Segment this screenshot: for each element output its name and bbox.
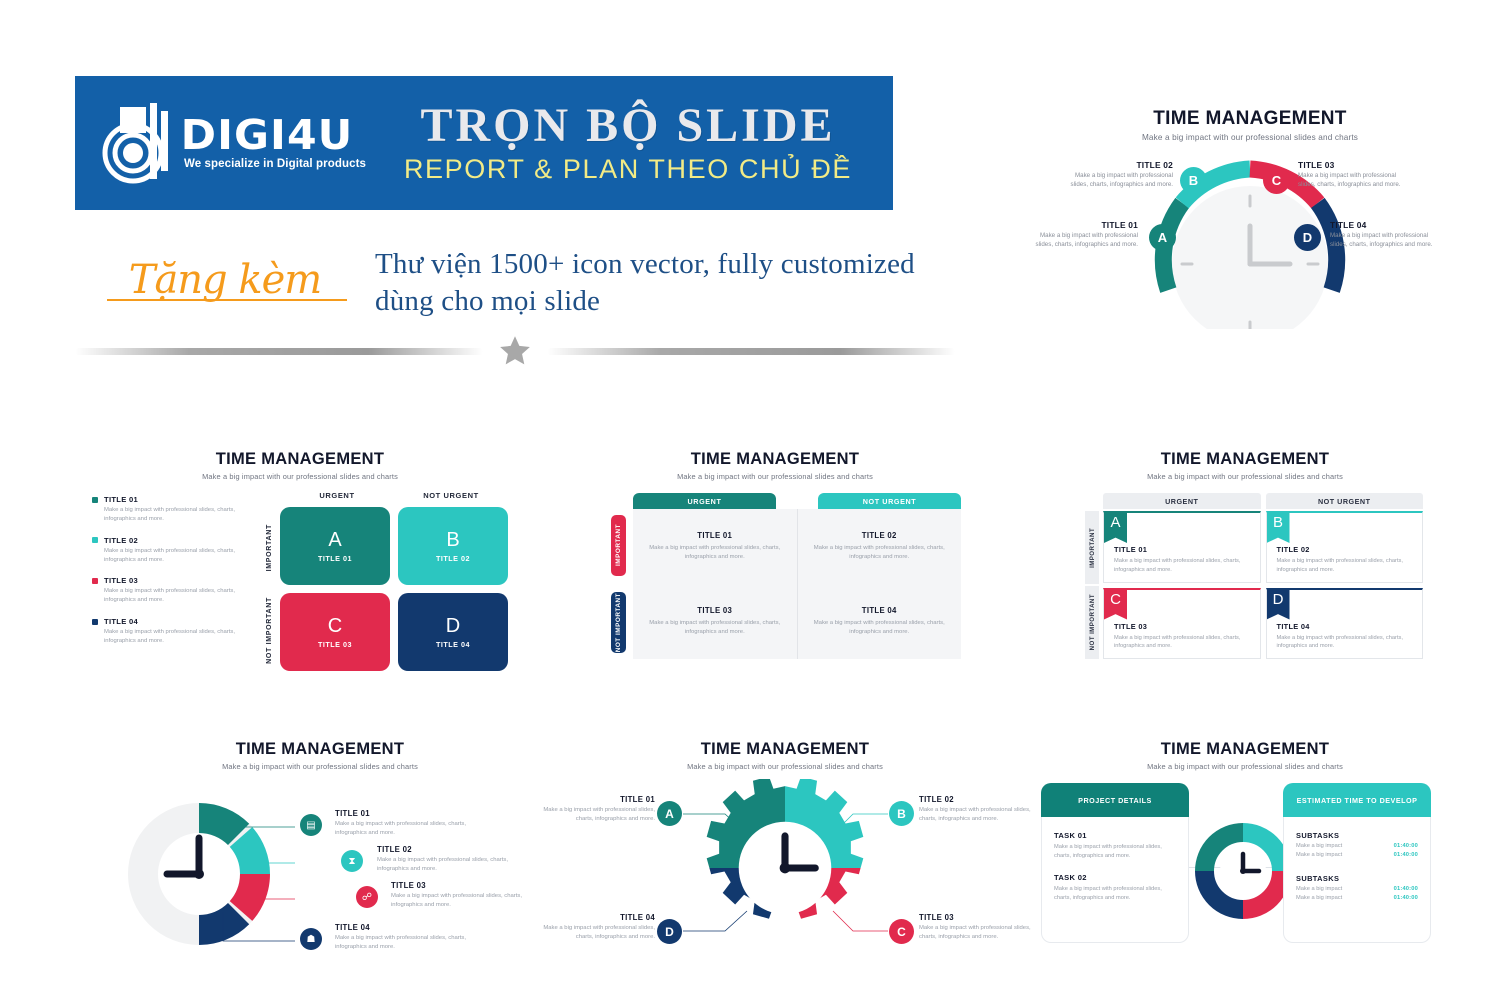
row-header-not-important: NOT IMPORTANT	[1089, 594, 1096, 650]
subtask-group-2: SUBTASKS Make a big impact 01:40:00 Make…	[1296, 874, 1418, 901]
side-tab-important[interactable]: IMPORTANT	[611, 515, 626, 576]
task-01-body: Make a big impact with professional slid…	[1054, 843, 1176, 860]
tab-urgent[interactable]: URGENT	[633, 493, 776, 509]
donut-item-02-body: Make a big impact with professional slid…	[377, 856, 527, 874]
legend-body: Make a big impact with professional slid…	[104, 587, 242, 605]
donut-item-01-body: Make a big impact with professional slid…	[335, 820, 485, 838]
subtask-value: 01:40:00	[1394, 852, 1418, 858]
divider-line-left	[75, 348, 483, 355]
quadrant-04-body: Make a big impact with professional slid…	[812, 619, 948, 637]
cell-label: TITLE 02	[436, 554, 470, 563]
matrix-panel: TITLE 01 Make a big impact with professi…	[633, 509, 961, 659]
gear-label-02: TITLE 02 Make a big impact with professi…	[919, 795, 1031, 824]
page-subtitle: Make a big impact with our professional …	[565, 472, 985, 481]
legend-list: TITLE 01 Make a big impact with professi…	[92, 495, 242, 658]
quadrant-02-title: TITLE 02	[862, 531, 897, 540]
gauge-label-03: TITLE 03 Make a big impact with professi…	[1298, 160, 1406, 190]
logo-wordmark: DIGI4U	[181, 116, 354, 155]
slide-gauge-clock: TIME MANAGEMENT Make a big impact with o…	[1010, 108, 1490, 338]
brand-logo: DIGI4U We specialize in Digital products	[93, 88, 373, 198]
cell-letter: D	[446, 616, 460, 636]
cell-label: TITLE 01	[318, 554, 352, 563]
donut-clock-chart	[115, 781, 295, 956]
cell-letter: B	[446, 530, 459, 550]
promo-headline: Thư viện 1500+ icon vector, fully custom…	[375, 246, 955, 320]
matrix-cell-c[interactable]: C TITLE 03 Make a big impact with profes…	[1103, 588, 1261, 660]
gauge-label-02-body: Make a big impact with professional slid…	[1065, 172, 1173, 190]
row-header-important: IMPORTANT	[266, 524, 273, 571]
gauge-label-03-body: Make a big impact with professional slid…	[1298, 172, 1406, 190]
gauge-label-01-title: TITLE 01	[1030, 220, 1138, 230]
quadrant-04[interactable]: TITLE 04 Make a big impact with professi…	[798, 584, 962, 659]
banner-subtitle: REPORT & PLAN THEO CHỦ ĐỀ	[404, 154, 852, 185]
gear-label-03-body: Make a big impact with professional slid…	[919, 924, 1031, 942]
person-icon[interactable]: ☗	[300, 928, 322, 950]
subtask-row[interactable]: Make a big impact 01:40:00	[1296, 852, 1418, 858]
cell-body: Make a big impact with professional slid…	[1277, 634, 1413, 652]
gear-label-03: TITLE 03 Make a big impact with professi…	[919, 913, 1031, 942]
page-subtitle: Make a big impact with our professional …	[105, 762, 535, 771]
column-header-not-urgent: NOT URGENT	[394, 491, 508, 500]
slide-matrix-tabbed: TIME MANAGEMENT Make a big impact with o…	[565, 450, 985, 680]
gear-badge-a[interactable]: A	[657, 801, 682, 826]
matrix-cell-b[interactable]: B TITLE 02	[398, 507, 508, 585]
slide-matrix-colored: TIME MANAGEMENT Make a big impact with o…	[80, 450, 520, 680]
handshake-icon[interactable]: ☍	[356, 886, 378, 908]
quadrant-01-body: Make a big impact with professional slid…	[647, 544, 783, 562]
page-subtitle: Make a big impact with our professional …	[80, 472, 520, 481]
gear-clock-chart	[693, 779, 877, 957]
matrix-cell-d[interactable]: D TITLE 04	[398, 593, 508, 671]
legend-dot-icon	[92, 497, 98, 503]
quadrant-03-title: TITLE 03	[697, 606, 732, 615]
cell-body: Make a big impact with professional slid…	[1277, 557, 1413, 575]
gear-label-02-title: TITLE 02	[919, 795, 1031, 804]
cell-label: TITLE 04	[436, 640, 470, 649]
poster-canvas: DIGI4U We specialize in Digital products…	[0, 0, 1500, 1000]
cell-title: TITLE 02	[1277, 545, 1413, 554]
task-02-body: Make a big impact with professional slid…	[1054, 885, 1176, 902]
task-02[interactable]: TASK 02 Make a big impact with professio…	[1054, 873, 1176, 902]
gauge-label-04: TITLE 04 Make a big impact with professi…	[1330, 220, 1438, 250]
legend-dot-icon	[92, 619, 98, 625]
side-tab-not-important-label: NOT IMPORTANT	[615, 593, 622, 652]
gear-label-04-body: Make a big impact with professional slid…	[543, 924, 655, 942]
matrix-cell-d[interactable]: D TITLE 04 Make a big impact with profes…	[1266, 588, 1424, 660]
legend-item[interactable]: TITLE 04 Make a big impact with professi…	[92, 617, 242, 646]
column-header-urgent[interactable]: URGENT	[1103, 493, 1261, 509]
subtask-group-1-title: SUBTASKS	[1296, 831, 1418, 840]
legend-title: TITLE 01	[104, 495, 138, 504]
quadrant-02-body: Make a big impact with professional slid…	[812, 544, 948, 562]
gear-badge-b[interactable]: B	[889, 801, 914, 826]
gear-label-04: TITLE 04 Make a big impact with professi…	[543, 913, 655, 942]
matrix-cell-a[interactable]: A TITLE 01 Make a big impact with profes…	[1103, 511, 1261, 583]
gauge-label-03-title: TITLE 03	[1298, 160, 1406, 170]
quadrant-03-body: Make a big impact with professional slid…	[647, 619, 783, 637]
slide-project-details: TIME MANAGEMENT Make a big impact with o…	[1025, 740, 1465, 970]
gauge-area: A B C D TITLE 01 Make a big impact with …	[1010, 148, 1490, 328]
legend-title: TITLE 02	[104, 536, 138, 545]
gear-label-01-title: TITLE 01	[543, 795, 655, 804]
legend-body: Make a big impact with professional slid…	[104, 506, 242, 524]
logo-tagline: We specialize in Digital products	[184, 158, 366, 170]
donut-item-03-title: TITLE 03	[391, 881, 541, 890]
tab-not-urgent[interactable]: NOT URGENT	[818, 493, 961, 509]
gauge-badge-b[interactable]: B	[1180, 167, 1207, 194]
page-subtitle: Make a big impact with our professional …	[1025, 762, 1465, 771]
donut-item-01: TITLE 01 Make a big impact with professi…	[335, 809, 485, 838]
gear-label-02-body: Make a big impact with professional slid…	[919, 806, 1031, 824]
page-title: TIME MANAGEMENT	[1010, 108, 1490, 130]
subtask-label: Make a big impact	[1296, 843, 1342, 849]
project-donut-chart	[1195, 823, 1291, 919]
header-banner: DIGI4U We specialize in Digital products…	[75, 76, 893, 210]
slide-matrix-ribbon: TIME MANAGEMENT Make a big impact with o…	[1045, 450, 1445, 680]
gear-badge-c[interactable]: C	[889, 919, 914, 944]
page-title: TIME MANAGEMENT	[575, 740, 995, 759]
legend-body: Make a big impact with professional slid…	[104, 628, 242, 646]
subtask-row[interactable]: Make a big impact 01:40:00	[1296, 895, 1418, 901]
cell-letter: A	[328, 530, 341, 550]
donut-item-04-body: Make a big impact with professional slid…	[335, 934, 485, 952]
quadrant-03[interactable]: TITLE 03 Make a big impact with professi…	[633, 584, 797, 659]
task-01-title: TASK 01	[1054, 831, 1176, 840]
gear-label-01: TITLE 01 Make a big impact with professi…	[543, 795, 655, 824]
gauge-label-01: TITLE 01 Make a big impact with professi…	[1030, 220, 1138, 250]
legend-title: TITLE 04	[104, 617, 138, 626]
gear-badge-d[interactable]: D	[657, 919, 682, 944]
promo-block: Tặng kèm Thư viện 1500+ icon vector, ful…	[75, 238, 955, 328]
quadrant-01[interactable]: TITLE 01 Make a big impact with professi…	[633, 509, 797, 584]
promo-script-text: Tặng kèm	[75, 257, 375, 309]
quadrant-01-title: TITLE 01	[697, 531, 732, 540]
gear-label-04-title: TITLE 04	[543, 913, 655, 922]
subtask-row[interactable]: Make a big impact 01:40:00	[1296, 886, 1418, 892]
subtask-group-1: SUBTASKS Make a big impact 01:40:00 Make…	[1296, 831, 1418, 858]
slide-donut-clock: TIME MANAGEMENT Make a big impact with o…	[105, 740, 535, 970]
column-header-not-urgent[interactable]: NOT URGENT	[1266, 493, 1424, 509]
subtask-row[interactable]: Make a big impact 01:40:00	[1296, 843, 1418, 849]
cell-body: Make a big impact with professional slid…	[1114, 634, 1250, 652]
page-title: TIME MANAGEMENT	[1025, 740, 1465, 759]
quadrant-04-title: TITLE 04	[862, 606, 897, 615]
side-tab-not-important[interactable]: NOT IMPORTANT	[611, 592, 626, 653]
legend-item[interactable]: TITLE 02 Make a big impact with professi…	[92, 536, 242, 565]
gauge-label-01-body: Make a big impact with professional slid…	[1030, 232, 1138, 250]
page-title: TIME MANAGEMENT	[80, 450, 520, 469]
legend-item[interactable]: TITLE 01 Make a big impact with professi…	[92, 495, 242, 524]
matrix-grid: URGENT NOT URGENT IMPORTANT NOT IMPORTAN…	[258, 491, 508, 671]
page-subtitle: Make a big impact with our professional …	[1010, 133, 1490, 142]
legend-item[interactable]: TITLE 03 Make a big impact with professi…	[92, 576, 242, 605]
presentation-icon[interactable]: ▤	[300, 814, 322, 836]
donut-item-03-body: Make a big impact with professional slid…	[391, 892, 541, 910]
page-title: TIME MANAGEMENT	[1045, 450, 1445, 469]
task-02-title: TASK 02	[1054, 873, 1176, 882]
matrix-cell-b[interactable]: B TITLE 02 Make a big impact with profes…	[1266, 511, 1424, 583]
subtask-label: Make a big impact	[1296, 886, 1342, 892]
gauge-label-04-title: TITLE 04	[1330, 220, 1438, 230]
star-icon	[495, 331, 535, 371]
legend-dot-icon	[92, 578, 98, 584]
side-tab-important-label: IMPORTANT	[615, 524, 622, 566]
subtask-value: 01:40:00	[1394, 843, 1418, 849]
gauge-badge-d[interactable]: D	[1294, 224, 1321, 251]
slide-gear-clock: TIME MANAGEMENT Make a big impact with o…	[575, 740, 995, 970]
legend-title: TITLE 03	[104, 576, 138, 585]
banner-title: TRỌN BỘ SLIDE	[420, 102, 835, 150]
donut-item-03: TITLE 03 Make a big impact with professi…	[391, 881, 541, 910]
gear-label-01-body: Make a big impact with professional slid…	[543, 806, 655, 824]
gauge-label-02: TITLE 02 Make a big impact with professi…	[1065, 160, 1173, 190]
cell-title: TITLE 04	[1277, 622, 1413, 631]
task-01[interactable]: TASK 01 Make a big impact with professio…	[1054, 831, 1176, 860]
donut-item-02: TITLE 02 Make a big impact with professi…	[377, 845, 527, 874]
donut-item-02-title: TITLE 02	[377, 845, 527, 854]
project-details-header: PROJECT DETAILS	[1041, 783, 1189, 817]
row-header-important: IMPORTANT	[1089, 528, 1096, 568]
cell-body: Make a big impact with professional slid…	[1114, 557, 1250, 575]
row-header-not-important: NOT IMPORTANT	[266, 597, 273, 664]
page-subtitle: Make a big impact with our professional …	[1045, 472, 1445, 481]
donut-item-04-title: TITLE 04	[335, 923, 485, 932]
gauge-label-02-title: TITLE 02	[1065, 160, 1173, 170]
digi4u-logomark-icon	[100, 97, 178, 189]
gauge-badge-c[interactable]: C	[1263, 167, 1290, 194]
estimated-time-header: ESTIMATED TIME TO DEVELOP	[1283, 783, 1431, 817]
subtask-label: Make a big impact	[1296, 895, 1342, 901]
estimated-time-card: ESTIMATED TIME TO DEVELOP SUBTASKS Make …	[1283, 783, 1431, 943]
legend-dot-icon	[92, 537, 98, 543]
cell-title: TITLE 03	[1114, 622, 1250, 631]
page-title: TIME MANAGEMENT	[565, 450, 985, 469]
subtask-label: Make a big impact	[1296, 852, 1342, 858]
hourglass-icon[interactable]: ⧗	[341, 850, 363, 872]
cell-title: TITLE 01	[1114, 545, 1250, 554]
section-divider	[75, 334, 955, 368]
subtask-group-2-title: SUBTASKS	[1296, 874, 1418, 883]
subtask-value: 01:40:00	[1394, 895, 1418, 901]
divider-line-right	[547, 348, 955, 355]
page-title: TIME MANAGEMENT	[105, 740, 535, 759]
matrix-cell-a[interactable]: A TITLE 01	[280, 507, 390, 585]
quadrant-02[interactable]: TITLE 02 Make a big impact with professi…	[798, 509, 962, 584]
page-subtitle: Make a big impact with our professional …	[575, 762, 995, 771]
project-details-card: PROJECT DETAILS TASK 01 Make a big impac…	[1041, 783, 1189, 943]
matrix-cell-c[interactable]: C TITLE 03	[280, 593, 390, 671]
gear-label-03-title: TITLE 03	[919, 913, 1031, 922]
gauge-label-04-body: Make a big impact with professional slid…	[1330, 232, 1438, 250]
donut-item-04: TITLE 04 Make a big impact with professi…	[335, 923, 485, 952]
gauge-badge-a[interactable]: A	[1149, 224, 1176, 251]
legend-body: Make a big impact with professional slid…	[104, 547, 242, 565]
subtask-value: 01:40:00	[1394, 886, 1418, 892]
column-header-urgent: URGENT	[280, 491, 394, 500]
cell-label: TITLE 03	[318, 640, 352, 649]
donut-item-01-title: TITLE 01	[335, 809, 485, 818]
cell-letter: C	[328, 616, 342, 636]
